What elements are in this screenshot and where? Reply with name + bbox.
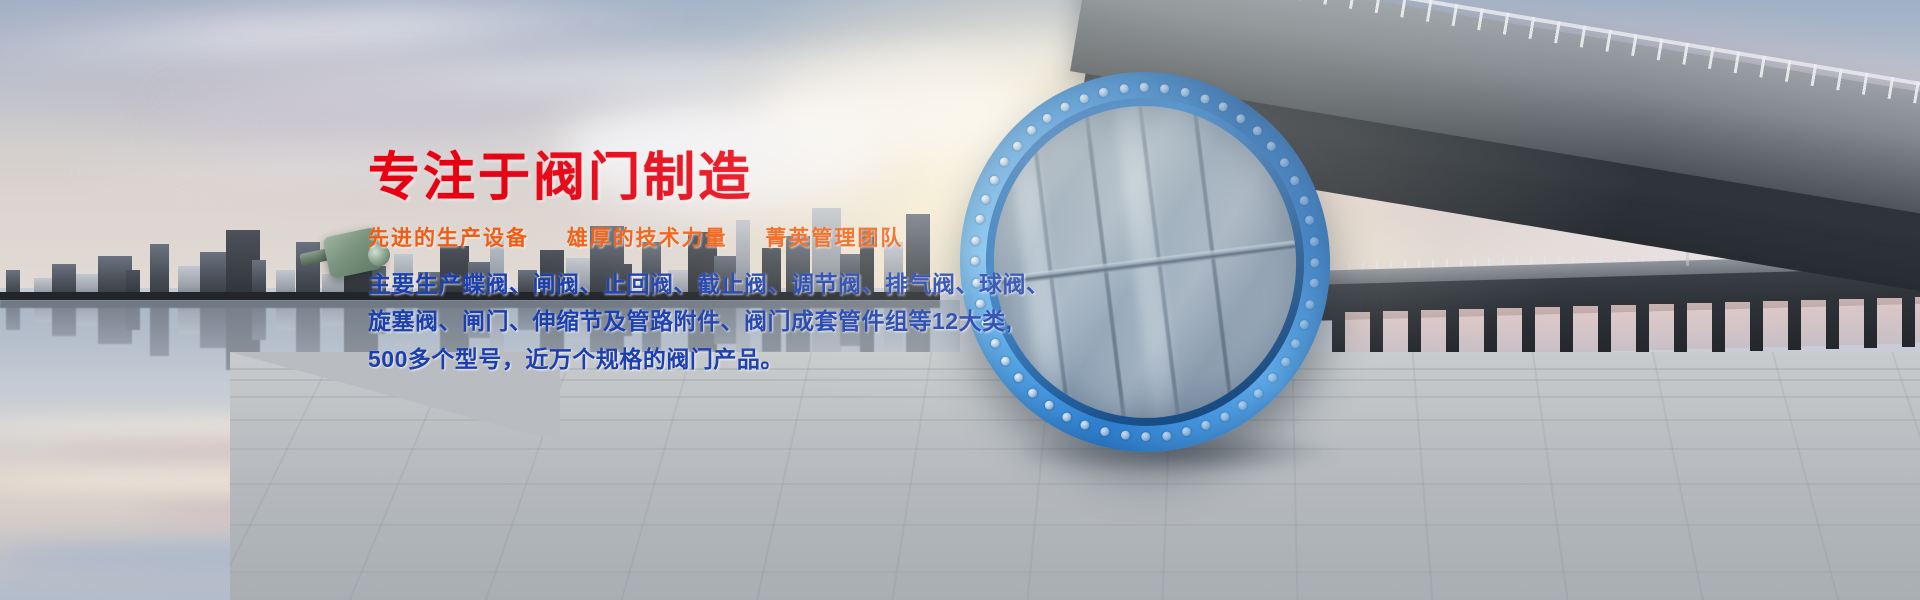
bolt-hole — [1080, 420, 1090, 430]
bolt-hole — [1100, 427, 1110, 437]
bolt-hole — [1299, 195, 1309, 205]
bridge-arch-gap — [1687, 303, 1712, 349]
butterfly-valve-product — [938, 51, 1352, 473]
bridge-arch-gap — [1877, 298, 1902, 344]
bolt-hole — [1098, 87, 1108, 97]
bridge-pier — [1598, 301, 1611, 355]
bolt-hole — [1305, 215, 1315, 225]
subline-segment-2: 雄厚的技术力量 — [567, 227, 728, 250]
bolt-hole — [1119, 83, 1129, 93]
bridge-pier — [1712, 298, 1725, 352]
banner-subline: 先进的生产设备 雄厚的技术力量 菁英管理团队 — [368, 222, 988, 252]
bolt-hole — [1309, 236, 1319, 246]
paving-joint — [617, 352, 693, 600]
bolt-hole — [1236, 113, 1246, 123]
bolt-hole — [1299, 319, 1309, 329]
bolt-hole — [1290, 176, 1300, 186]
bolt-hole — [1181, 427, 1191, 437]
bridge-arch-gap — [1611, 305, 1636, 351]
bolt-hole — [1237, 401, 1247, 411]
subline-segment-1: 先进的生产设备 — [368, 227, 529, 250]
paving-joint — [1772, 352, 1843, 600]
subline-segment-3: 菁英管理团队 — [765, 227, 903, 250]
paving-joint — [753, 352, 812, 600]
paving-joint — [1532, 352, 1571, 600]
bridge-pier — [1864, 294, 1877, 348]
bolt-hole — [1062, 412, 1072, 422]
bolt-hole — [1180, 87, 1190, 97]
description-line: 500多个型号，近万个规格的阀门产品。 — [368, 341, 988, 378]
bolt-hole — [1291, 339, 1301, 349]
banner-description: 主要生产蝶阀、闸阀、止回阀、截止阀、调节阀、排气阀、球阀、 旋塞阀、闸门、伸缩节… — [368, 266, 988, 378]
paving-joint — [230, 483, 1920, 485]
bolt-hole — [1280, 357, 1290, 367]
bolt-hole — [1279, 158, 1289, 168]
bolt-hole — [1139, 82, 1149, 92]
page-title: 专注于阀门制造 — [368, 150, 988, 206]
building — [296, 300, 320, 358]
bolt-hole — [1013, 373, 1023, 383]
bridge-arch-gap — [1839, 299, 1864, 345]
bolt-hole — [1027, 126, 1037, 136]
description-line: 旋塞阀、闸门、伸缩节及管路附件、阀门成套管件组等12大类, — [368, 303, 988, 340]
bridge-pier — [1788, 296, 1801, 350]
bridge-pier — [1636, 300, 1649, 354]
bridge-arch-gap — [1535, 307, 1560, 353]
bridge-pier — [1674, 299, 1687, 353]
paving-joint — [1891, 352, 1920, 600]
bolt-hole — [1160, 83, 1170, 93]
paving-joint — [230, 571, 1920, 573]
bolt-hole — [1000, 356, 1010, 366]
bridge-arch-gap — [1763, 301, 1788, 347]
bridge-arch-gap — [1649, 304, 1674, 350]
bolt-hole — [1305, 299, 1315, 309]
bridge-arch-gap — [1573, 306, 1598, 352]
bolt-hole — [1200, 94, 1210, 104]
paving-joint — [230, 524, 1920, 526]
hero-banner: 专注于阀门制造 先进的生产设备 雄厚的技术力量 菁英管理团队 主要生产蝶阀、闸阀… — [0, 0, 1920, 600]
bolt-hole — [1310, 257, 1320, 267]
bolt-hole — [1141, 432, 1151, 442]
bolt-hole — [1120, 431, 1130, 441]
bolt-hole — [1309, 278, 1319, 288]
bridge-arch-gap — [1383, 311, 1408, 357]
bolt-hole — [1201, 421, 1211, 431]
bridge-arch-gap — [1497, 308, 1522, 354]
description-line: 主要生产蝶阀、闸阀、止回阀、截止阀、调节阀、排气阀、球阀、 — [368, 266, 988, 303]
paving-joint — [1652, 352, 1706, 600]
bolt-hole — [1079, 93, 1089, 103]
paving-joint — [889, 352, 932, 600]
bridge-pier — [1522, 303, 1535, 357]
bolt-hole — [1028, 388, 1038, 398]
bolt-hole — [1044, 401, 1054, 411]
bolt-hole — [1220, 412, 1230, 422]
building — [150, 300, 169, 356]
bolt-hole — [1000, 157, 1010, 167]
bridge-arch-gap — [1459, 309, 1484, 355]
bridge-arch-gap — [1801, 300, 1826, 346]
bolt-hole — [1252, 126, 1262, 136]
bolt-hole — [1043, 113, 1053, 123]
bridge-pier — [1560, 302, 1573, 356]
bridge-arch-gap — [1725, 302, 1750, 348]
bridge-pier — [1446, 305, 1459, 359]
bolt-hole — [1267, 141, 1277, 151]
bolt-hole — [1161, 431, 1171, 441]
bridge-arch-gap — [1421, 310, 1446, 356]
bridge-pier — [1902, 293, 1915, 347]
bridge-arch-gap — [1915, 297, 1920, 343]
bridge-pier — [1484, 304, 1497, 358]
bolt-hole — [989, 175, 999, 185]
bolt-hole — [990, 338, 1000, 348]
bolt-hole — [1268, 373, 1278, 383]
bridge-pier — [1826, 295, 1839, 349]
bolt-hole — [1060, 102, 1070, 112]
paving-joint — [1412, 352, 1435, 600]
bolt-hole — [1253, 388, 1263, 398]
valve-bolt-holes — [938, 51, 1352, 473]
bridge-pier — [1750, 297, 1763, 351]
bolt-hole — [1012, 141, 1022, 151]
banner-copy: 专注于阀门制造 先进的生产设备 雄厚的技术力量 菁英管理团队 主要生产蝶阀、闸阀… — [368, 150, 988, 378]
bolt-hole — [1218, 102, 1228, 112]
